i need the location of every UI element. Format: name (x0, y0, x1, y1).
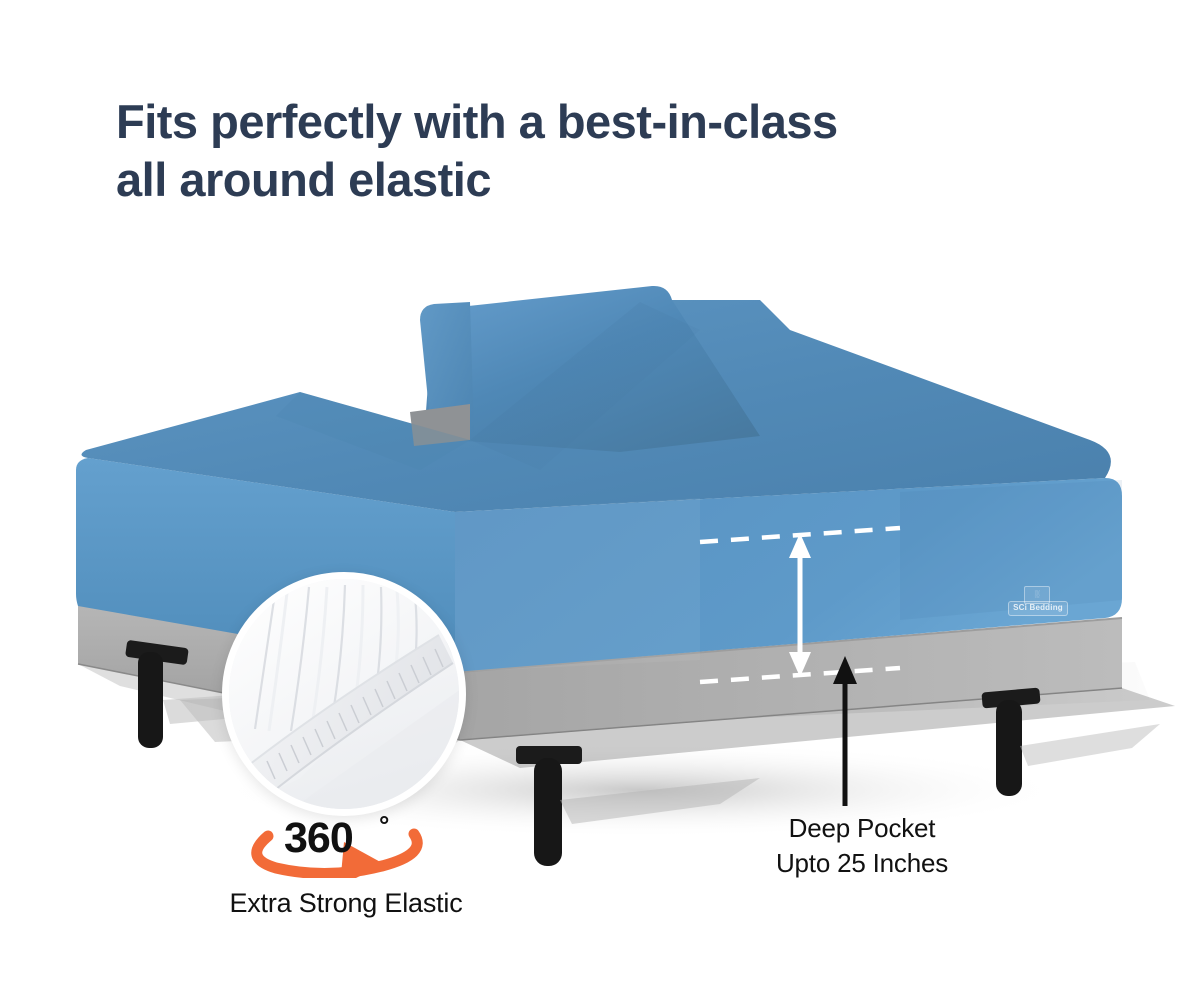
page-headline: Fits perfectly with a best-in-class all … (116, 93, 1016, 208)
product-feature-image: Fits perfectly with a best-in-class all … (0, 0, 1200, 1000)
360-degree-badge: 360 ° (232, 812, 458, 878)
fitted-sheet-mattress (76, 286, 1122, 672)
badge-number: 360 (284, 814, 353, 863)
badge-degree-symbol: ° (379, 810, 389, 841)
deep-pocket-callout: Deep Pocket Upto 25 Inches (742, 811, 982, 880)
elastic-closeup-inset (222, 572, 466, 816)
elastic-caption: Extra Strong Elastic (196, 888, 496, 919)
